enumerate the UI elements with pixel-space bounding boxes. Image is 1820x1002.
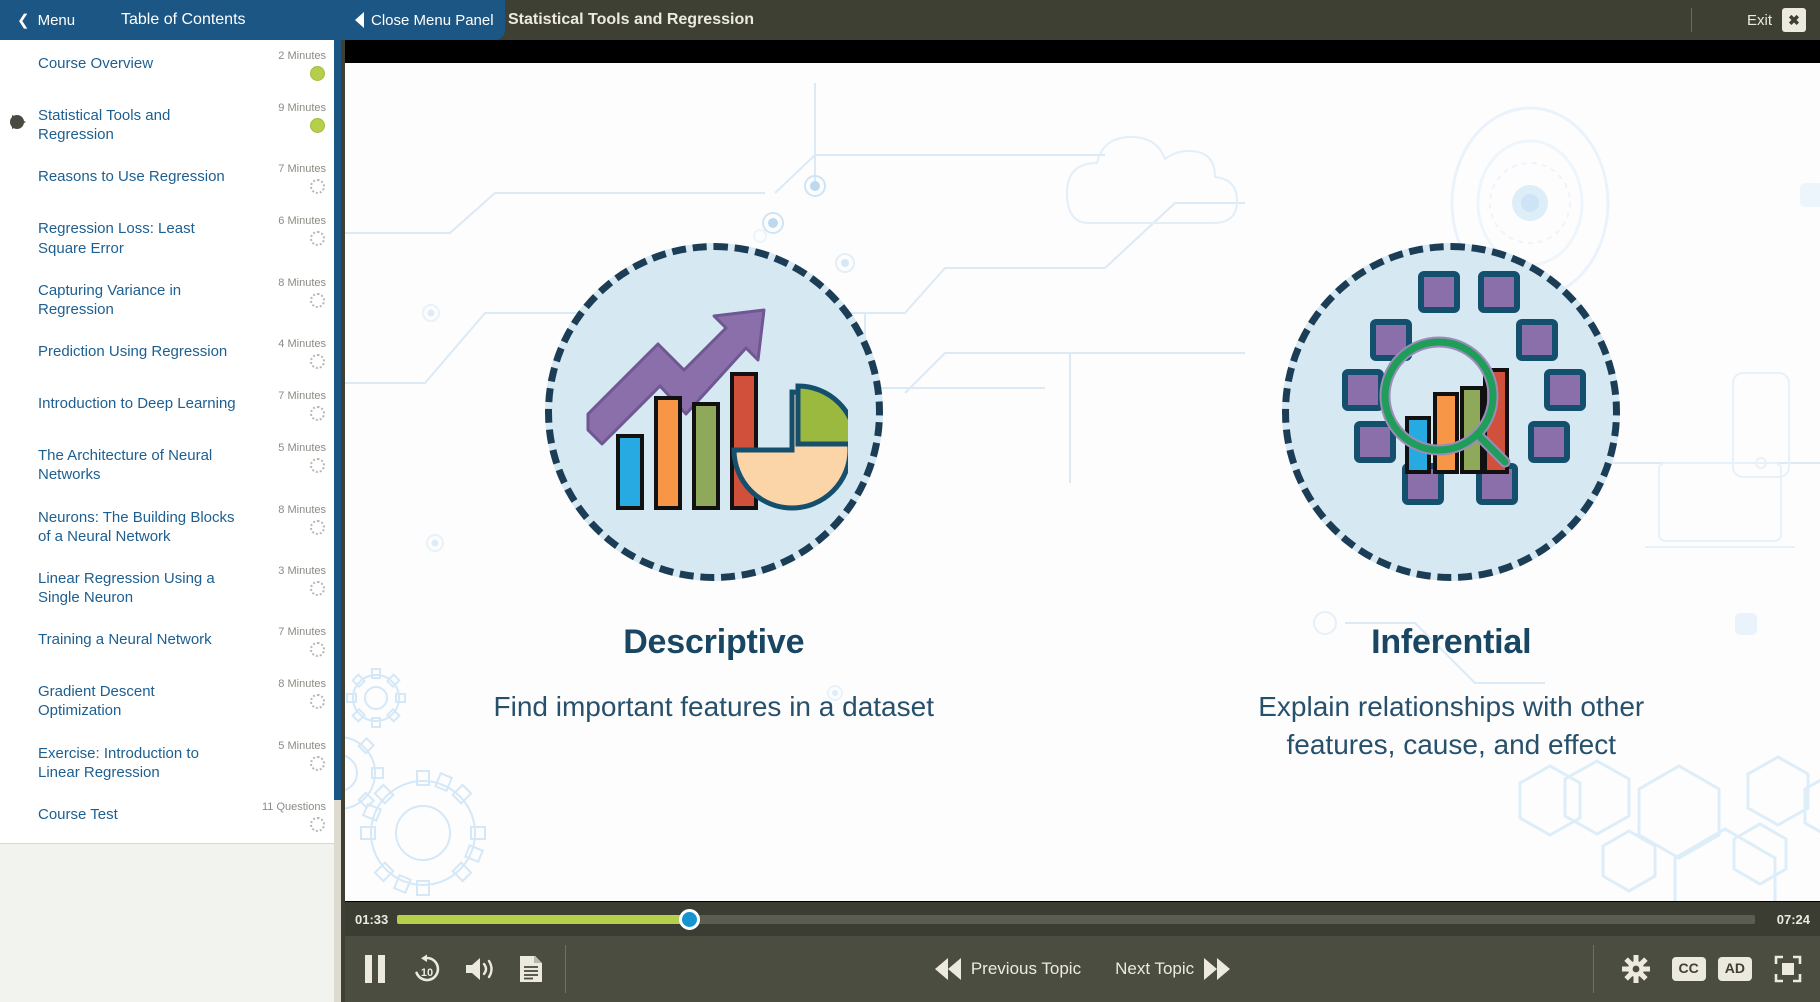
menu-button[interactable]: ❮ Menu [17,0,75,40]
sidebar-item-exercise-introduction-to-linear-regression[interactable]: Exercise: Introduction to Linear Regress… [0,730,334,791]
double-arrow-right-icon [1204,958,1230,980]
bar-chart-arrow-pie-icon [580,286,848,538]
previous-topic-label: Previous Topic [971,959,1081,979]
sidebar-item-gradient-descent-optimization[interactable]: Gradient Descent Optimization8 Minutes [0,668,334,729]
sidebar-item-duration: 7 Minutes [278,390,326,402]
seek-row: 01:33 07:24 [345,902,1820,936]
sidebar-item-duration: 8 Minutes [278,504,326,516]
sidebar-item-course-test[interactable]: Course Test11 Questions [0,791,334,843]
sidebar-item-label: Gradient Descent Optimization [38,677,248,720]
sidebar-item-label: Linear Regression Using a Single Neuron [38,564,248,607]
sidebar-item-duration: 7 Minutes [278,163,326,175]
table-of-contents-title: Table of Contents [121,0,246,40]
toc-marker [0,162,38,176]
toc-marker [0,503,38,517]
status-badge-incomplete [310,293,325,308]
fullscreen-icon [1774,955,1802,983]
menu-button-label: Menu [38,12,76,29]
sidebar-item-meta: 5 Minutes [248,441,326,473]
concept-descriptive: Descriptive Find important features in a… [345,63,1083,901]
sidebar-item-regression-loss-least-square-error[interactable]: Regression Loss: Least Square Error6 Min… [0,205,334,266]
sidebar-item-duration: 8 Minutes [278,277,326,289]
sidebar-item-training-a-neural-network[interactable]: Training a Neural Network7 Minutes [0,616,334,668]
table-of-contents-label: Table of Contents [121,11,246,29]
status-badge-incomplete [310,458,325,473]
concept-inferential: Inferential Explain relationships with o… [1083,63,1820,901]
top-bar: ❮ Menu Table of Contents Close Menu Pane… [0,0,1820,40]
status-badge-incomplete [310,231,325,246]
status-badge-incomplete [310,756,325,771]
concept-columns: Descriptive Find important features in a… [345,63,1820,901]
sidebar-item-meta: 2 Minutes [248,49,326,81]
sidebar-item-label: Capturing Variance in Regression [38,276,248,319]
sidebar-item-label: Reasons to Use Regression [38,162,248,186]
sidebar-item-meta: 8 Minutes [248,276,326,308]
sidebar-item-meta: 5 Minutes [248,739,326,771]
toc-marker [0,337,38,351]
toolbar-divider [1691,8,1692,32]
toc-scrollbar[interactable] [334,40,341,1002]
sidebar-item-meta: 4 Minutes [248,337,326,369]
sidebar-item-duration: 8 Minutes [278,678,326,690]
exit-button[interactable]: Exit [1747,12,1772,29]
slide-canvas: Descriptive Find important features in a… [345,63,1820,901]
sidebar-item-meta: 7 Minutes [248,162,326,194]
double-arrow-left-icon [935,958,961,980]
close-menu-panel-button[interactable]: Close Menu Panel [355,0,494,40]
sidebar-item-introduction-to-deep-learning[interactable]: Introduction to Deep Learning7 Minutes [0,380,334,432]
gear-icon [1622,955,1650,983]
sidebar-item-capturing-variance-in-regression[interactable]: Capturing Variance in Regression8 Minute… [0,267,334,328]
sidebar-item-duration: 2 Minutes [278,50,326,62]
sidebar-item-duration: 4 Minutes [278,338,326,350]
sidebar-item-duration: 7 Minutes [278,626,326,638]
total-time: 07:24 [1777,902,1810,936]
sidebar-item-meta: 8 Minutes [248,677,326,709]
status-badge-incomplete [310,694,325,709]
sidebar-item-meta: 8 Minutes [248,503,326,535]
fullscreen-button[interactable] [1764,943,1812,995]
sidebar-item-label: Course Overview [38,49,248,73]
status-badge-complete [310,118,325,133]
previous-topic-button[interactable]: Previous Topic [935,958,1081,980]
exit-group: Exit ✖ [1747,0,1806,40]
sidebar-item-meta: 3 Minutes [248,564,326,596]
sidebar-item-linear-regression-using-a-single-neuron[interactable]: Linear Regression Using a Single Neuron3… [0,555,334,616]
sidebar-item-duration: 5 Minutes [278,740,326,752]
current-time: 01:33 [355,902,388,936]
sidebar-item-label: The Architecture of Neural Networks [38,441,248,484]
seek-bar[interactable] [397,915,1755,924]
current-topic-pointer-icon [12,115,26,129]
next-topic-label: Next Topic [1115,959,1194,979]
status-badge-incomplete [310,581,325,596]
sidebar-item-meta: 6 Minutes [248,214,326,246]
options-divider [1593,945,1594,993]
seek-bar-fill [397,915,689,924]
lesson-title: Statistical Tools and Regression [508,0,754,40]
status-badge-complete [310,66,325,81]
sidebar-item-label: Neurons: The Building Blocks of a Neural… [38,503,248,546]
sidebar-item-meta: 9 Minutes [248,101,326,133]
sidebar-item-label: Introduction to Deep Learning [38,389,248,413]
course-player-window: ❮ Menu Table of Contents Close Menu Pane… [0,0,1820,1002]
status-badge-incomplete [310,354,325,369]
toc-marker [0,214,38,228]
lesson-title-text: Statistical Tools and Regression [508,11,754,29]
toc-marker [0,276,38,290]
next-topic-button[interactable]: Next Topic [1115,958,1230,980]
sidebar-item-duration: 9 Minutes [278,102,326,114]
close-icon[interactable]: ✖ [1782,8,1806,32]
chevron-left-icon: ❮ [17,13,30,28]
sidebar-item-the-architecture-of-neural-networks[interactable]: The Architecture of Neural Networks5 Min… [0,432,334,493]
descriptive-illustration-circle [545,243,883,581]
toc-marker [0,101,38,129]
sidebar-item-meta: 7 Minutes [248,389,326,421]
toc-marker [0,739,38,753]
settings-button[interactable] [1612,943,1660,995]
controls-row: 10 [345,936,1820,1002]
menu-panel: Course Overview2 MinutesStatistical Tool… [0,40,341,1002]
status-badge-incomplete [310,817,325,832]
sidebar-item-label: Course Test [38,800,248,824]
magnifier-bar-chart-icon [1305,266,1597,558]
sidebar-item-neurons-the-building-blocks-of-a-neural-network[interactable]: Neurons: The Building Blocks of a Neural… [0,494,334,555]
sidebar-item-label: Statistical Tools and Regression [38,101,248,144]
sidebar-item-duration: 6 Minutes [278,215,326,227]
sidebar-item-duration: 3 Minutes [278,565,326,577]
sidebar-item-meta: 11 Questions [248,800,326,832]
status-badge-incomplete [310,179,325,194]
sidebar-item-label: Training a Neural Network [38,625,248,649]
toc-scrollbar-thumb[interactable] [334,40,341,800]
toc-marker [0,564,38,578]
player-bar: 01:33 07:24 10 [345,902,1820,1002]
status-badge-incomplete [310,642,325,657]
sidebar-item-prediction-using-regression[interactable]: Prediction Using Regression4 Minutes [0,328,334,380]
sidebar-item-label: Prediction Using Regression [38,337,248,361]
toc-marker [0,800,38,814]
closed-captions-button[interactable]: CC [1672,957,1706,980]
toc-marker [0,441,38,455]
toc-marker [0,625,38,639]
inferential-illustration-circle [1282,243,1620,581]
close-menu-panel-label: Close Menu Panel [371,12,494,29]
descriptive-title: Descriptive [623,623,804,662]
toc-marker [0,389,38,403]
toc-marker [0,677,38,691]
sidebar-item-label: Exercise: Introduction to Linear Regress… [38,739,248,782]
seek-bar-handle[interactable] [679,909,700,930]
sidebar-item-statistical-tools-and-regression[interactable]: Statistical Tools and Regression9 Minute… [0,92,334,153]
sidebar-item-meta: 7 Minutes [248,625,326,657]
inferential-description: Explain relationships with other feature… [1216,688,1686,764]
triangle-left-icon [355,12,364,28]
status-badge-incomplete [310,406,325,421]
audio-description-button[interactable]: AD [1718,957,1752,980]
table-of-contents-list: Course Overview2 MinutesStatistical Tool… [0,40,334,844]
status-badge-incomplete [310,520,325,535]
slide-stage: Descriptive Find important features in a… [345,40,1820,902]
player-options: CC AD [1587,936,1812,1002]
sidebar-item-course-overview[interactable]: Course Overview2 Minutes [0,40,334,92]
sidebar-item-label: Regression Loss: Least Square Error [38,214,248,257]
sidebar-item-reasons-to-use-regression[interactable]: Reasons to Use Regression7 Minutes [0,153,334,205]
inferential-title: Inferential [1371,623,1531,662]
sidebar-item-duration: 5 Minutes [278,442,326,454]
descriptive-description: Find important features in a dataset [494,688,934,726]
toc-marker [0,49,38,63]
sidebar-item-duration: 11 Questions [262,801,326,813]
